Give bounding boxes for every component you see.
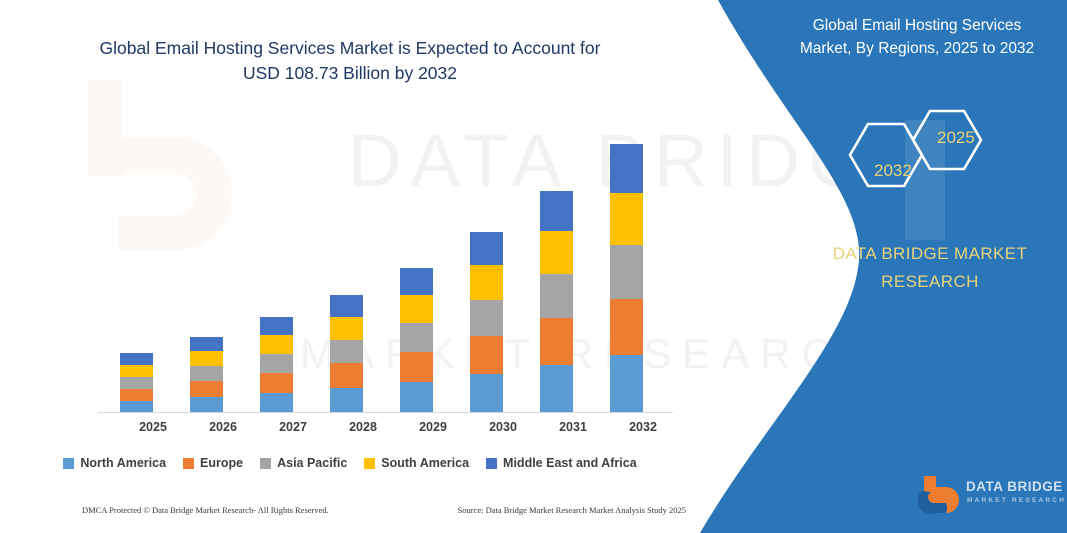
bar-segment: [400, 352, 433, 382]
panel-title-line1: Global Email Hosting Services: [813, 17, 1021, 34]
data-bridge-logo-mark: [918, 474, 964, 518]
bar-segment: [470, 336, 503, 374]
bar-segment: [470, 300, 503, 336]
bar-segment: [190, 366, 223, 381]
hexagon-badges: [820, 100, 1020, 210]
hexagon-2025-label: 2025: [937, 128, 975, 148]
bar-segment: [470, 265, 503, 300]
x-axis-label-2026: 2026: [188, 420, 258, 434]
legend-swatch: [364, 458, 375, 469]
bar-segment: [260, 373, 293, 393]
x-axis-label-2031: 2031: [538, 420, 608, 434]
chart-legend: North AmericaEuropeAsia PacificSouth Ame…: [0, 456, 700, 470]
legend-label: South America: [381, 456, 469, 470]
stacked-bar-chart: 20252026202720282029203020312032: [0, 0, 700, 533]
x-axis-label-2030: 2030: [468, 420, 538, 434]
legend-item[interactable]: Asia Pacific: [260, 456, 347, 470]
bar-2032: [610, 144, 643, 413]
x-axis-label-2025: 2025: [118, 420, 188, 434]
x-axis-line: [98, 412, 673, 413]
legend-label: Europe: [200, 456, 243, 470]
bar-segment: [330, 317, 363, 340]
bar-segment: [610, 144, 643, 193]
logo-text-primary: DATA BRIDGE: [966, 479, 1063, 494]
bar-segment: [470, 232, 503, 265]
panel-title: Global Email Hosting Services Market, By…: [773, 14, 1061, 60]
chart-plot-area: [98, 110, 668, 413]
bar-2030: [470, 232, 503, 413]
x-axis-labels: 20252026202720282029203020312032: [98, 420, 668, 442]
legend-item[interactable]: South America: [364, 456, 469, 470]
bar-2027: [260, 317, 293, 413]
bar-2029: [400, 268, 433, 413]
hexagon-2032-label: 2032: [874, 161, 912, 181]
legend-swatch: [183, 458, 194, 469]
bar-segment: [610, 299, 643, 355]
bar-segment: [400, 268, 433, 295]
legend-swatch: [486, 458, 497, 469]
legend-label: Asia Pacific: [277, 456, 347, 470]
panel-title-line2: Market, By Regions, 2025 to 2032: [800, 40, 1034, 57]
bar-segment: [400, 323, 433, 352]
footer-source: Source: Data Bridge Market Research Mark…: [457, 505, 686, 515]
brand-caption-line1: DATA BRIDGE MARKET: [833, 244, 1028, 263]
bar-segment: [330, 388, 363, 413]
x-axis-label-2032: 2032: [608, 420, 678, 434]
legend-swatch: [63, 458, 74, 469]
bar-segment: [540, 274, 573, 318]
legend-swatch: [260, 458, 271, 469]
bar-segment: [540, 318, 573, 365]
x-axis-label-2028: 2028: [328, 420, 398, 434]
bar-segment: [190, 351, 223, 366]
bar-segment: [120, 377, 153, 389]
bar-segment: [540, 191, 573, 231]
data-bridge-logo: DATA BRIDGE MARKET RESEARCH: [918, 474, 1060, 520]
brand-caption: DATA BRIDGE MARKET RESEARCH: [800, 240, 1060, 296]
bar-segment: [120, 353, 153, 365]
logo-text-secondary: MARKET RESEARCH: [967, 497, 1066, 504]
bar-segment: [400, 295, 433, 323]
bar-segment: [470, 374, 503, 413]
bar-segment: [330, 340, 363, 363]
bar-segment: [260, 354, 293, 373]
bar-segment: [260, 393, 293, 413]
legend-item[interactable]: Middle East and Africa: [486, 456, 637, 470]
x-axis-label-2029: 2029: [398, 420, 468, 434]
legend-item[interactable]: North America: [63, 456, 166, 470]
x-axis-label-2027: 2027: [258, 420, 328, 434]
bar-segment: [190, 397, 223, 413]
bar-segment: [120, 389, 153, 401]
legend-label: North America: [80, 456, 166, 470]
bar-segment: [330, 295, 363, 317]
bar-segment: [260, 317, 293, 335]
legend-label: Middle East and Africa: [503, 456, 637, 470]
bar-segment: [260, 335, 293, 354]
bar-segment: [610, 245, 643, 299]
footer-bar: DMCA Protected © Data Bridge Market Rese…: [0, 505, 700, 515]
bar-segment: [190, 381, 223, 397]
bar-segment: [610, 193, 643, 245]
bar-segment: [540, 231, 573, 274]
bar-segment: [400, 382, 433, 413]
bar-segment: [120, 365, 153, 377]
footer-copyright: DMCA Protected © Data Bridge Market Rese…: [82, 505, 329, 515]
bar-2028: [330, 295, 363, 413]
legend-item[interactable]: Europe: [183, 456, 243, 470]
bar-segment: [330, 363, 363, 388]
bar-segment: [190, 337, 223, 351]
brand-caption-line2: RESEARCH: [881, 272, 979, 291]
bar-2031: [540, 191, 573, 413]
bar-2026: [190, 337, 223, 413]
bar-2025: [120, 353, 153, 413]
bar-segment: [610, 355, 643, 413]
bar-segment: [540, 365, 573, 413]
infographic-canvas: DATA BRIDGE MARKET RESEARCH Global Email…: [0, 0, 1067, 533]
